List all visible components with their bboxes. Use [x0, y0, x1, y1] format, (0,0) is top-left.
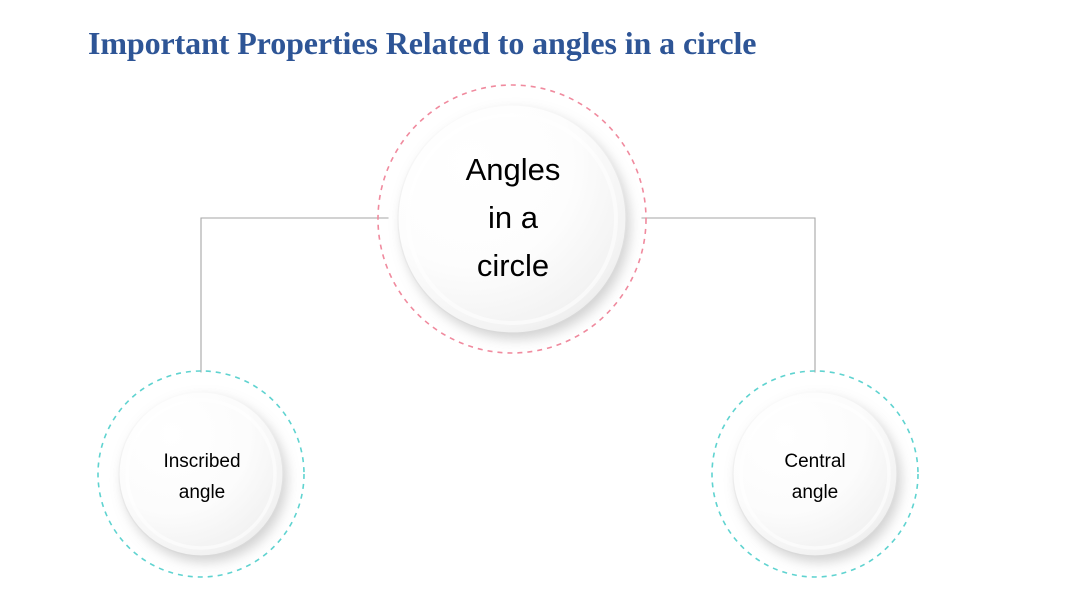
disc-inscribed [119, 392, 283, 556]
slide-canvas: Important Properties Related to angles i… [0, 0, 1080, 604]
connector-root-to-inscribed [201, 218, 388, 372]
disc-central [733, 392, 897, 556]
disc-root [398, 105, 626, 333]
node-central-angle[interactable] [712, 371, 918, 577]
diagram-canvas [0, 0, 1080, 604]
node-inscribed-angle[interactable] [98, 371, 304, 577]
node-angles-in-a-circle[interactable] [378, 85, 646, 353]
connector-root-to-central [642, 218, 815, 372]
